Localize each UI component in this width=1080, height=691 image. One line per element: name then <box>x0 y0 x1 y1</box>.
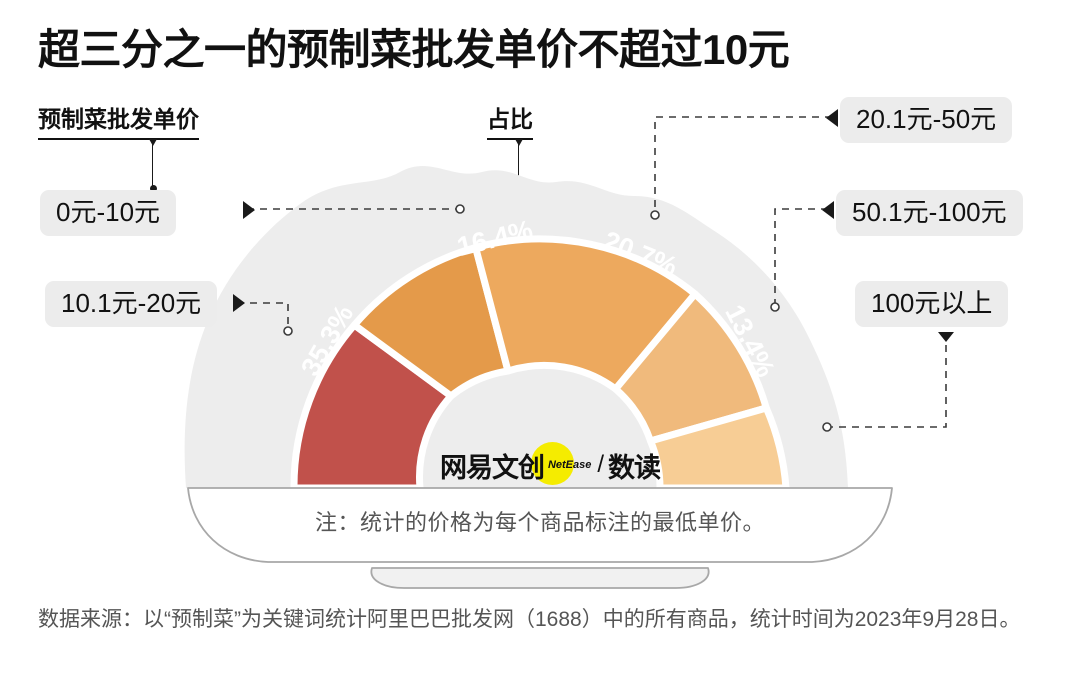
connector-50-100 <box>775 209 828 307</box>
logo-brand-text: 数读 <box>608 446 660 485</box>
anchor-100-above <box>823 423 831 431</box>
logo-slash: / <box>597 451 604 479</box>
category-chip-20-50[interactable]: 20.1元-50元 <box>840 97 1012 143</box>
chip-arrow-100-above <box>938 332 954 342</box>
category-chip-100-above[interactable]: 100元以上 <box>855 281 1008 327</box>
source-text: 数据来源：以“预制菜”为关键词统计阿里巴巴批发网（1688）中的所有商品，统计时… <box>38 603 1053 637</box>
bowl-shape <box>188 488 892 588</box>
chip-arrow-0-10 <box>233 294 245 312</box>
anchor-20-50 <box>651 211 659 219</box>
connector-20-50 <box>655 117 832 215</box>
chip-arrow-10-20 <box>243 201 255 219</box>
category-chip-50-100[interactable]: 50.1元-100元 <box>836 190 1023 236</box>
anchor-10-20 <box>456 205 464 213</box>
anchor-50-100 <box>771 303 779 311</box>
category-chip-0-10[interactable]: 0元-10元 <box>40 190 176 236</box>
chip-arrow-50-100 <box>822 201 834 219</box>
chart-note: 注：统计的价格为每个商品标注的最低单价。 <box>0 505 1080 537</box>
category-chip-10-20[interactable]: 10.1元-20元 <box>45 281 217 327</box>
logo-en-text: NetEase <box>548 459 591 471</box>
chip-arrow-20-50 <box>826 109 838 127</box>
logo-cn-text: 网易文创 <box>440 446 544 485</box>
connector-100-above <box>827 345 946 427</box>
anchor-0-10 <box>284 327 292 335</box>
netease-logo: 网易文创 NetEase / 数读 <box>425 443 675 487</box>
